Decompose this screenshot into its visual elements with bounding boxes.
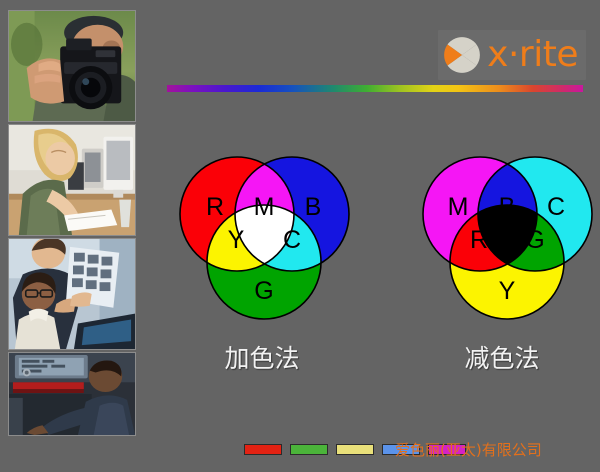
venn-subtractive-label-B: B (499, 193, 516, 221)
venn-subtractive-label-M: M (448, 193, 469, 221)
venn-additive-label-C: C (283, 226, 301, 254)
swatch-green (290, 444, 328, 455)
venn-additive-label-B: B (305, 193, 322, 221)
venn-subtractive-label-R: R (470, 226, 488, 254)
x-rite-logo: x·rite (438, 30, 586, 80)
swatch-red (244, 444, 282, 455)
caption-additive: 加色法 (152, 344, 372, 374)
venn-additive-label-Y: Y (228, 226, 245, 254)
venn-additive: R B G M Y C (175, 152, 350, 322)
swatch-yellow (336, 444, 374, 455)
x-rite-logo-mark (444, 37, 480, 73)
slide-canvas: x·rite (0, 0, 600, 472)
venn-subtractive-label-Y: Y (499, 277, 516, 305)
spectrum-rule (167, 85, 583, 92)
photo-strip (8, 10, 136, 465)
photo-woman-at-desk-with-monitor (8, 124, 136, 236)
photo-press-operator (8, 352, 136, 436)
photo-photographer-with-camera (8, 10, 136, 122)
photo-two-people-reviewing-proof (8, 238, 136, 350)
venn-additive-label-M: M (254, 193, 275, 221)
x-rite-wordmark: x·rite (487, 37, 578, 73)
footer-company-name: 爱色丽(亚太)有限公司 (395, 440, 542, 460)
venn-subtractive: M C Y B R G (418, 152, 593, 322)
venn-subtractive-label-C: C (547, 193, 565, 221)
venn-subtractive-label-G: G (525, 226, 544, 254)
venn-additive-label-R: R (206, 193, 224, 221)
caption-subtractive: 减色法 (392, 344, 600, 374)
venn-additive-label-G: G (254, 277, 273, 305)
